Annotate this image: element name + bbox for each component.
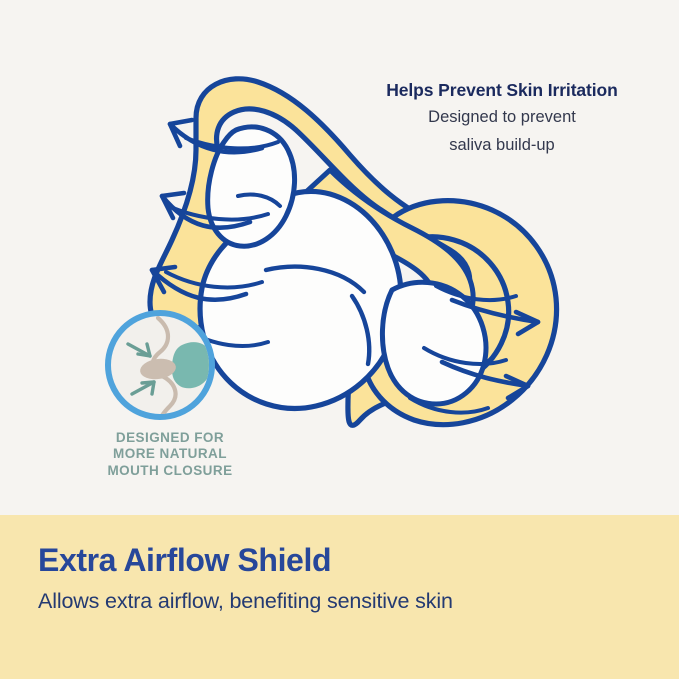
inset-caption: Designed for more natural mouth closure xyxy=(77,430,263,479)
annotation-subtitle-line1: Designed to prevent xyxy=(352,106,652,130)
banner-subtitle: Allows extra airflow, benefiting sensiti… xyxy=(38,589,643,615)
annotation-title: Helps Prevent Skin Irritation xyxy=(352,80,652,102)
feature-banner: Extra Airflow Shield Allows extra airflo… xyxy=(0,515,679,679)
inset-caption-line2: more natural xyxy=(77,446,263,462)
annotation-block: Helps Prevent Skin Irritation Designed t… xyxy=(352,80,652,158)
mouth-closure-inset xyxy=(108,313,212,434)
illustration-area: Helps Prevent Skin Irritation Designed t… xyxy=(0,0,679,515)
shield-inner-hole-right xyxy=(382,282,486,404)
inset-caption-line3: mouth closure xyxy=(77,463,263,479)
inset-caption-line1: Designed for xyxy=(77,430,263,446)
infographic-page: Helps Prevent Skin Irritation Designed t… xyxy=(0,0,679,679)
annotation-subtitle-line2: saliva build-up xyxy=(352,134,652,158)
banner-title: Extra Airflow Shield xyxy=(38,543,643,578)
